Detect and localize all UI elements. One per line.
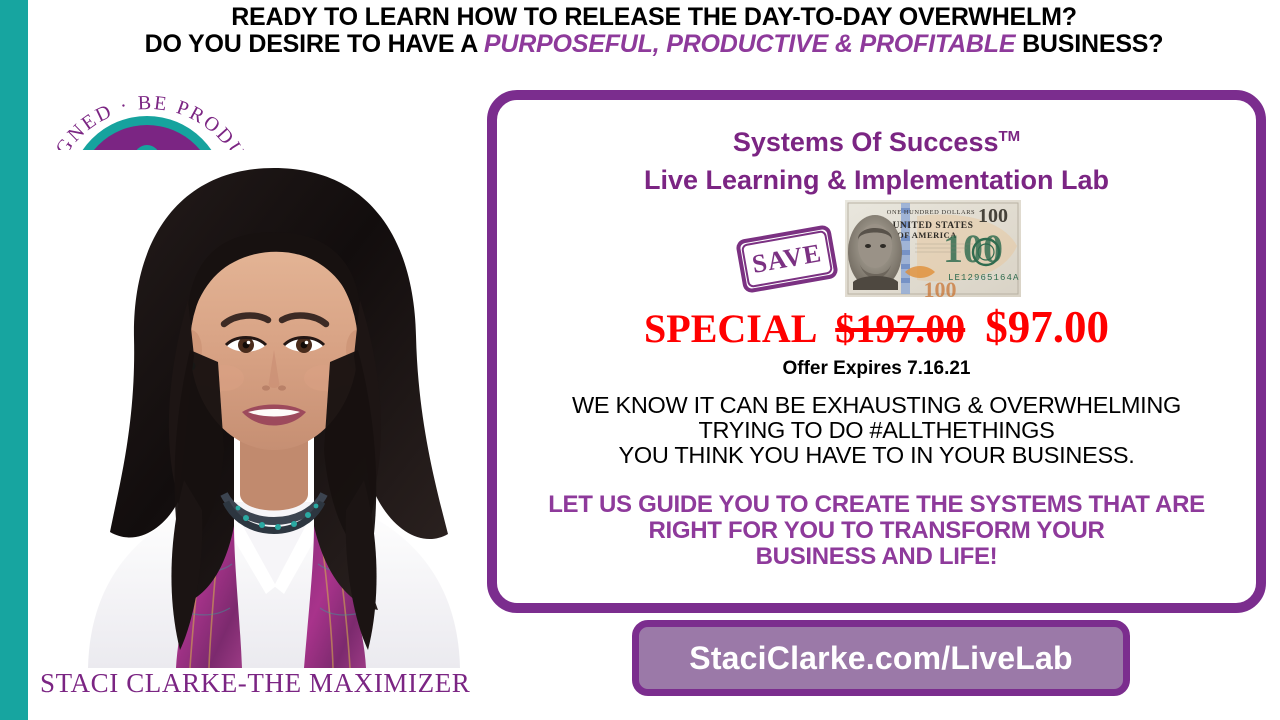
bill-serial-number: LE12965164A: [948, 273, 1020, 283]
offer-card: Systems Of SuccessTM Live Learning & Imp…: [487, 90, 1266, 613]
body-black-line-1: WE KNOW IT CAN BE EXHAUSTING & OVERWHELM…: [497, 393, 1256, 418]
body-black-line-3: YOU THINK YOU HAVE TO IN YOUR BUSINESS.: [497, 443, 1256, 468]
card-title-line-1: Systems Of SuccessTM: [497, 118, 1256, 161]
price-label: SPECIAL: [644, 306, 815, 351]
body-black-line-2: TRYING TO DO #ALLTHETHINGS: [497, 418, 1256, 443]
portrait-photo: [28, 150, 520, 668]
price-row: SPECIAL $197.00 $97.00: [497, 304, 1256, 352]
headline-line-2: DO YOU DESIRE TO HAVE A PURPOSEFUL, PROD…: [28, 31, 1280, 58]
card-title-main: Systems Of Success: [733, 127, 999, 157]
body-purple-line-1: LET US GUIDE YOU TO CREATE THE SYSTEMS T…: [497, 492, 1256, 518]
price-original: $197.00: [835, 306, 965, 351]
dollar-bill-svg: ONE HUNDRED DOLLARS UNITED STATES OF AME…: [845, 200, 1021, 297]
body-purple-line-3: BUSINESS AND LIFE!: [497, 544, 1256, 570]
portrait-svg: [28, 150, 520, 668]
body-copy-black: WE KNOW IT CAN BE EXHAUSTING & OVERWHELM…: [497, 393, 1256, 468]
headline-accent-phrase: PURPOSEFUL, PRODUCTIVE & PROFITABLE: [484, 30, 1015, 58]
promo-graphics-row: SAVE: [497, 196, 1256, 306]
bill-denomination-corner: 100: [978, 205, 1008, 227]
cta-button-label: StaciClarke.com/LiveLab: [689, 640, 1072, 677]
offer-expiry-text: Offer Expires 7.16.21: [497, 358, 1256, 380]
promo-flyer: READY TO LEARN HOW TO RELEASE THE DAY-TO…: [0, 0, 1280, 720]
body-copy-purple: LET US GUIDE YOU TO CREATE THE SYSTEMS T…: [497, 492, 1256, 570]
card-title-line-2: Live Learning & Implementation Lab: [497, 161, 1256, 199]
trademark-symbol: TM: [998, 128, 1020, 145]
save-stamp-icon: SAVE: [735, 224, 839, 294]
cta-button[interactable]: StaciClarke.com/LiveLab: [632, 620, 1130, 696]
bill-bottom-numeral: 100: [924, 277, 957, 297]
headline-line-2-suffix: BUSINESS?: [1015, 30, 1163, 58]
page-headline: READY TO LEARN HOW TO RELEASE THE DAY-TO…: [28, 4, 1280, 58]
headline-line-1: READY TO LEARN HOW TO RELEASE THE DAY-TO…: [28, 4, 1280, 31]
headline-line-2-prefix: DO YOU DESIRE TO HAVE A: [145, 30, 484, 58]
bill-top-text: ONE HUNDRED DOLLARS: [887, 209, 975, 216]
card-title: Systems Of SuccessTM Live Learning & Imp…: [497, 118, 1256, 199]
price-discounted: $97.00: [985, 302, 1109, 352]
save-stamp-inner-border: SAVE: [741, 230, 833, 288]
hundred-dollar-bill-image: ONE HUNDRED DOLLARS UNITED STATES OF AME…: [845, 200, 1021, 297]
save-stamp-label: SAVE: [750, 240, 823, 278]
body-purple-line-2: RIGHT FOR YOU TO TRANSFORM YOUR: [497, 518, 1256, 544]
presenter-name-caption: STACI CLARKE-THE MAXIMIZER: [40, 668, 510, 699]
